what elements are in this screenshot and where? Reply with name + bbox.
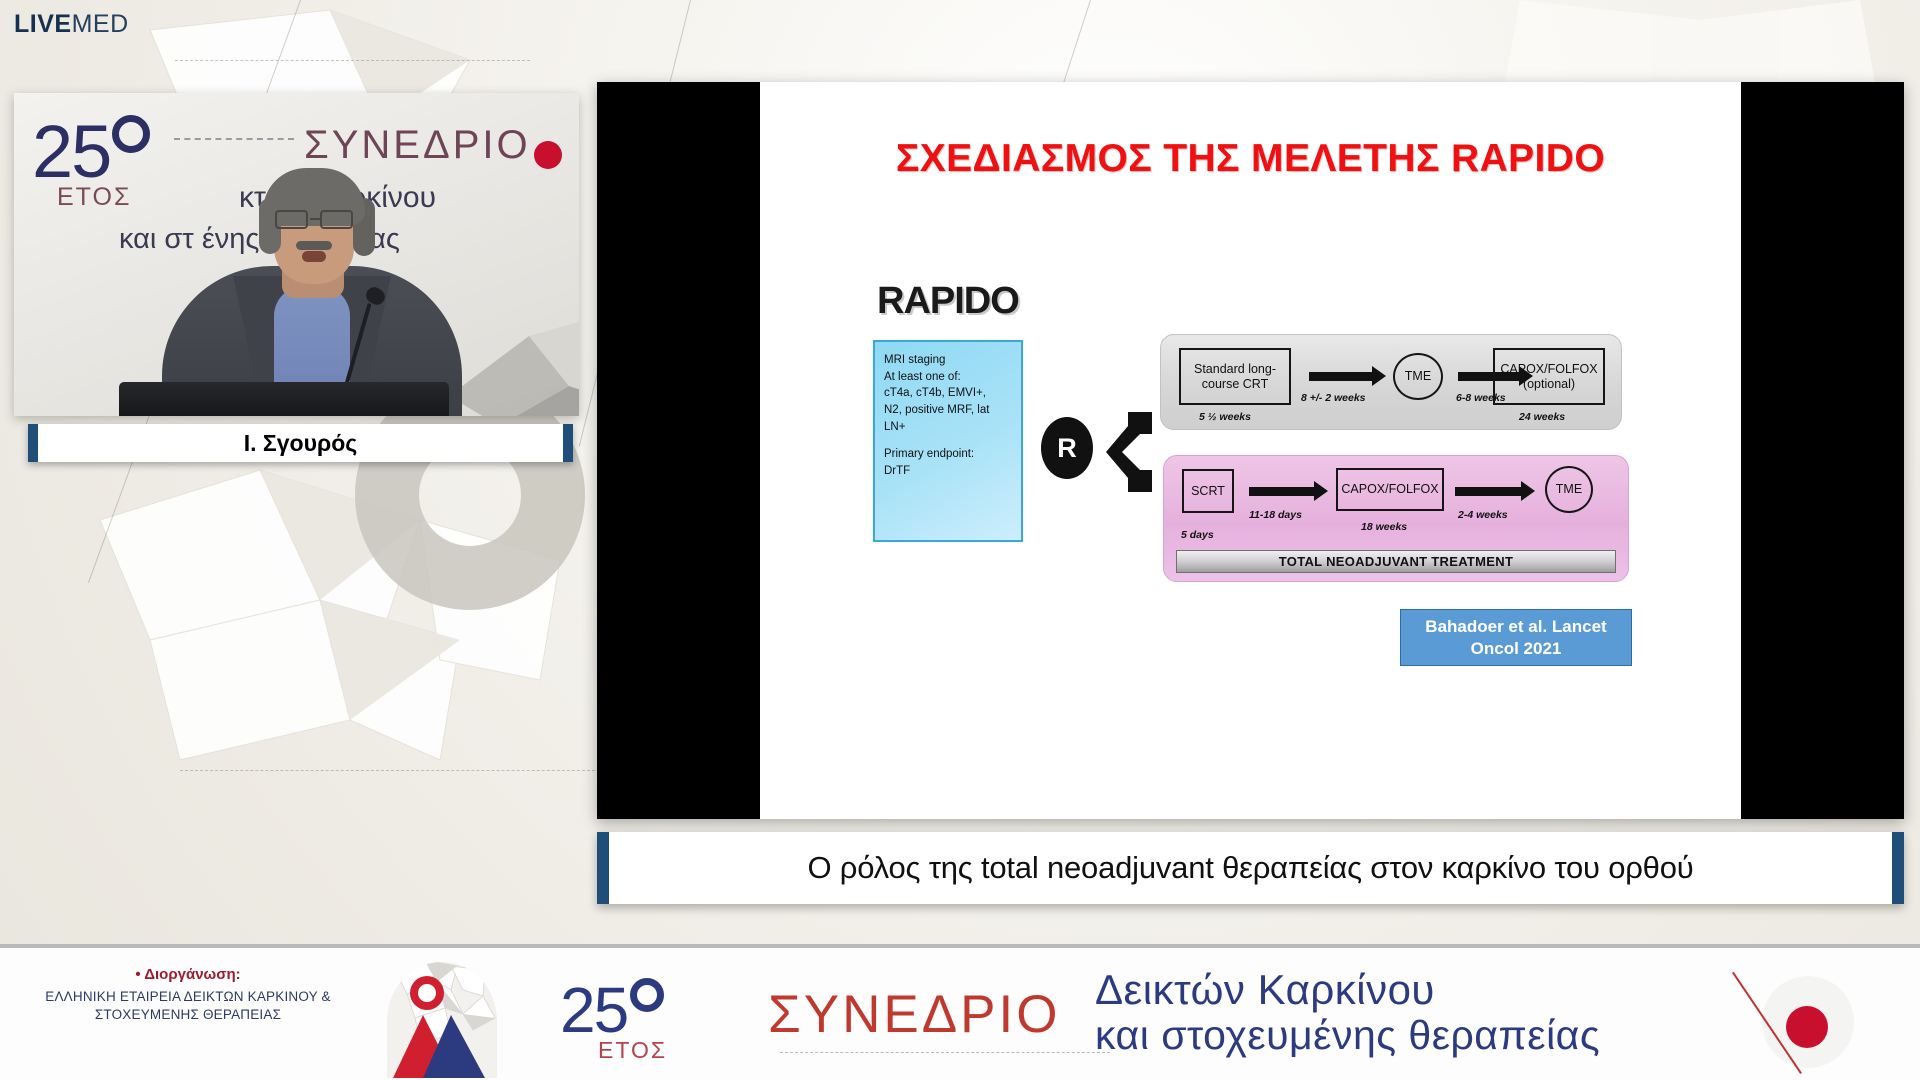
standard-arm-crt-duration: 5 ½ weeks (1199, 411, 1251, 423)
organizer-block: • Διοργάνωση: ΕΛΛΗΝΙΚΗ ΕΤΑΙΡΕΙΑ ΔΕΙΚΤΩΝ … (38, 966, 338, 1024)
slide-stage[interactable]: ΣΧΕΔΙΑΣΜΟΣ ΤΗΣ ΜΕΛΕΤΗΣ RAPIDO RAPIDO MRI… (597, 82, 1904, 819)
speaker-moustache (296, 241, 332, 250)
experimental-arm-arrow-2 (1455, 487, 1522, 496)
experimental-arm-node-tme: TME (1545, 466, 1593, 513)
experimental-arm-node-scrt: SCRT (1182, 469, 1234, 513)
trial-name-label: RAPIDO (877, 280, 1019, 323)
organizer-label: • Διοργάνωση: (38, 966, 338, 983)
footer-tagline-line1: Δεικτών Καρκίνου (1095, 966, 1600, 1013)
presentation-slide: ΣΧΕΔΙΑΣΜΟΣ ΤΗΣ ΜΕΛΕΤΗΣ RAPIDO RAPIDO MRI… (760, 82, 1741, 819)
footer-year-number: 25 (560, 978, 627, 1042)
standard-arm-node-chemo: CAPOX/FOLFOX (optional) (1493, 348, 1605, 405)
eligibility-line-5: LN+ (884, 419, 1012, 436)
total-neoadjuvant-treatment-banner: TOTAL NEOADJUVANT TREATMENT (1176, 550, 1616, 573)
background-dashed-line-2 (180, 770, 600, 771)
footer-red-dot-icon (1786, 1006, 1828, 1048)
speaker-name-text: Ι. Σγουρός (244, 430, 357, 457)
randomization-label: R (1057, 433, 1077, 464)
eligibility-criteria-box: MRI staging At least one of: cT4a, cT4b,… (873, 340, 1023, 542)
logo-med-text: MED (72, 10, 129, 38)
backdrop-red-dot-icon (534, 141, 562, 169)
slide-title: ΣΧΕΔΙΑΣΜΟΣ ΤΗΣ ΜΕΛΕΤΗΣ RAPIDO (760, 137, 1741, 181)
experimental-arm-scrt-duration: 5 days (1181, 529, 1214, 541)
experimental-arm-arrow2-caption: 2-4 weeks (1458, 509, 1508, 521)
footer-degree-ring-icon (630, 978, 664, 1012)
footer-red-dot-decoration (1748, 958, 1878, 1078)
randomization-split-arrow-icon (1098, 404, 1156, 500)
eligibility-line-2: At least one of: (884, 369, 1012, 386)
primary-endpoint-label: Primary endpoint: (884, 446, 1012, 463)
backdrop-year-number: 25 (32, 115, 110, 189)
eligibility-line-3: cT4a, cT4b, EMVI+, (884, 385, 1012, 402)
standard-arm-node-tme: TME (1393, 353, 1443, 400)
speaker-name-bar: Ι. Σγουρός (28, 424, 573, 462)
experimental-arm-arrow-1 (1249, 487, 1315, 496)
randomization-node: R (1041, 417, 1093, 479)
livemed-logo: LIVEMED (14, 10, 129, 39)
background-dashed-line-1 (175, 60, 530, 61)
eligibility-spacer (884, 435, 1012, 446)
speaker-video-player[interactable]: 25 ΕΤΟΣ ΣΥΝΕΔΡΙΟ κτών Καρκίνου και στ έν… (14, 93, 579, 416)
podium (119, 382, 449, 416)
speaker-figure (162, 136, 462, 416)
standard-arm-arrow1-caption: 8 +/- 2 weeks (1301, 392, 1366, 404)
experimental-arm-chemo-duration: 18 weeks (1361, 521, 1407, 533)
presentation-title-bar: Ο ρόλος της total neoadjuvant θεραπείας … (597, 832, 1904, 904)
logo-live-text: LIVE (14, 10, 72, 38)
experimental-arm-container: SCRT 5 days 11-18 days CAPOX/FOLFOX 18 w… (1163, 455, 1629, 582)
speaker-glasses-icon (272, 210, 356, 230)
eligibility-line-4: N2, positive MRF, lat (884, 402, 1012, 419)
standard-arm-container: Standard long-course CRT 5 ½ weeks 8 +/-… (1160, 334, 1622, 430)
primary-endpoint-value: DrTF (884, 463, 1012, 480)
organizer-name: ΕΛΛΗΝΙΚΗ ΕΤΑΙΡΕΙΑ ΔΕΙΚΤΩΝ ΚΑΡΚΙΝΟΥ & ΣΤΟ… (38, 988, 338, 1024)
footer-tagline-line2: και στοχευμένης θεραπείας (1095, 1013, 1600, 1059)
footer-etos-text: ΕΤΟΣ (598, 1037, 667, 1064)
footer-tagline: Δεικτών Καρκίνου και στοχευμένης θεραπεί… (1095, 966, 1600, 1059)
presentation-title-text: Ο ρόλος της total neoadjuvant θεραπείας … (807, 850, 1693, 886)
backdrop-etos-text: ΕΤΟΣ (57, 183, 131, 212)
footer-synedrio-dashed-line (780, 1052, 1110, 1053)
footer-synedrio-text: ΣΥΝΕΔΡΙΟ (768, 984, 1060, 1045)
citation-box: Bahadoer et al. Lancet Oncol 2021 (1400, 609, 1632, 666)
experimental-arm-node-chemo: CAPOX/FOLFOX (1336, 468, 1444, 511)
speaker-mouth (302, 251, 326, 262)
standard-arm-chemo-duration: 24 weeks (1519, 411, 1565, 423)
backdrop-degree-ring-icon (112, 115, 150, 153)
standard-arm-node-crt: Standard long-course CRT (1179, 348, 1291, 405)
video-frame: 25 ΕΤΟΣ ΣΥΝΕΔΡΙΟ κτών Καρκίνου και στ έν… (14, 93, 579, 416)
standard-arm-arrow-1 (1309, 372, 1373, 381)
eligibility-line-1: MRI staging (884, 352, 1012, 369)
footer-cube-logo-icon (385, 960, 500, 1080)
experimental-arm-arrow1-caption: 11-18 days (1249, 509, 1302, 521)
page-footer: • Διοργάνωση: ΕΛΛΗΝΙΚΗ ΕΤΑΙΡΕΙΑ ΔΕΙΚΤΩΝ … (0, 944, 1920, 1080)
